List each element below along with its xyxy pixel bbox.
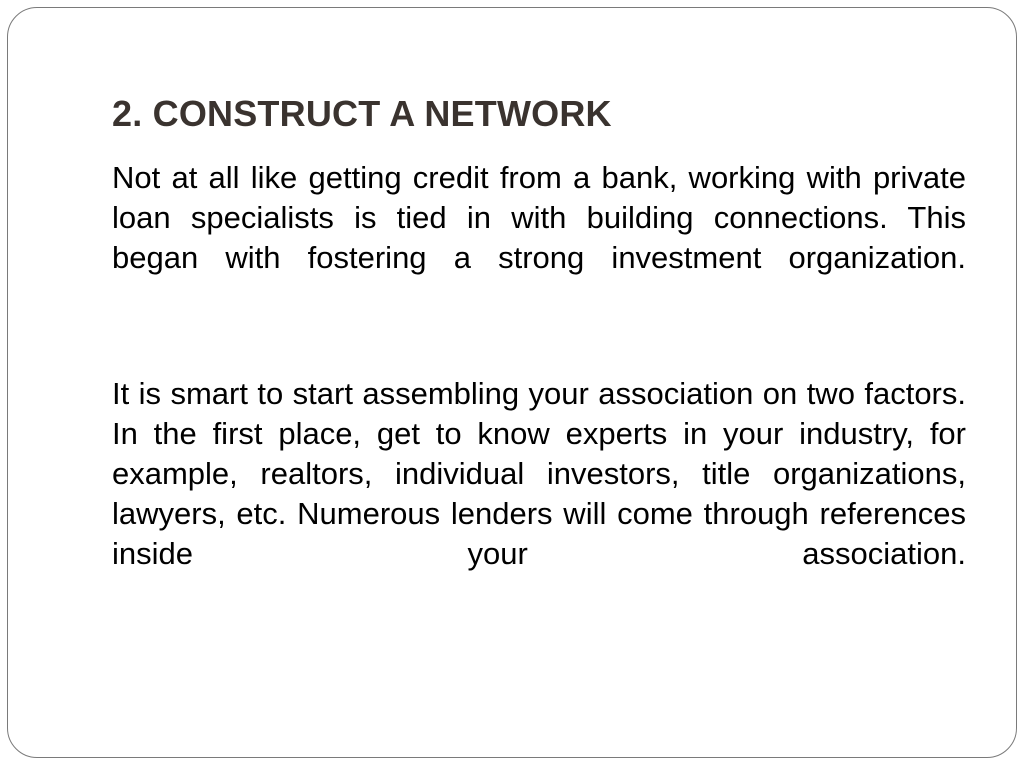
- slide-content: 2. CONSTRUCT A NETWORK Not at all like g…: [112, 92, 966, 614]
- page-title: 2. CONSTRUCT A NETWORK: [112, 92, 966, 136]
- slide-canvas: 2. CONSTRUCT A NETWORK Not at all like g…: [0, 0, 1024, 768]
- body-text-block: Not at all like getting credit from a ba…: [112, 158, 966, 614]
- paragraph-1: Not at all like getting credit from a ba…: [112, 158, 966, 318]
- paragraph-2: It is smart to start assembling your ass…: [112, 374, 966, 614]
- paragraph-spacer: [112, 318, 966, 374]
